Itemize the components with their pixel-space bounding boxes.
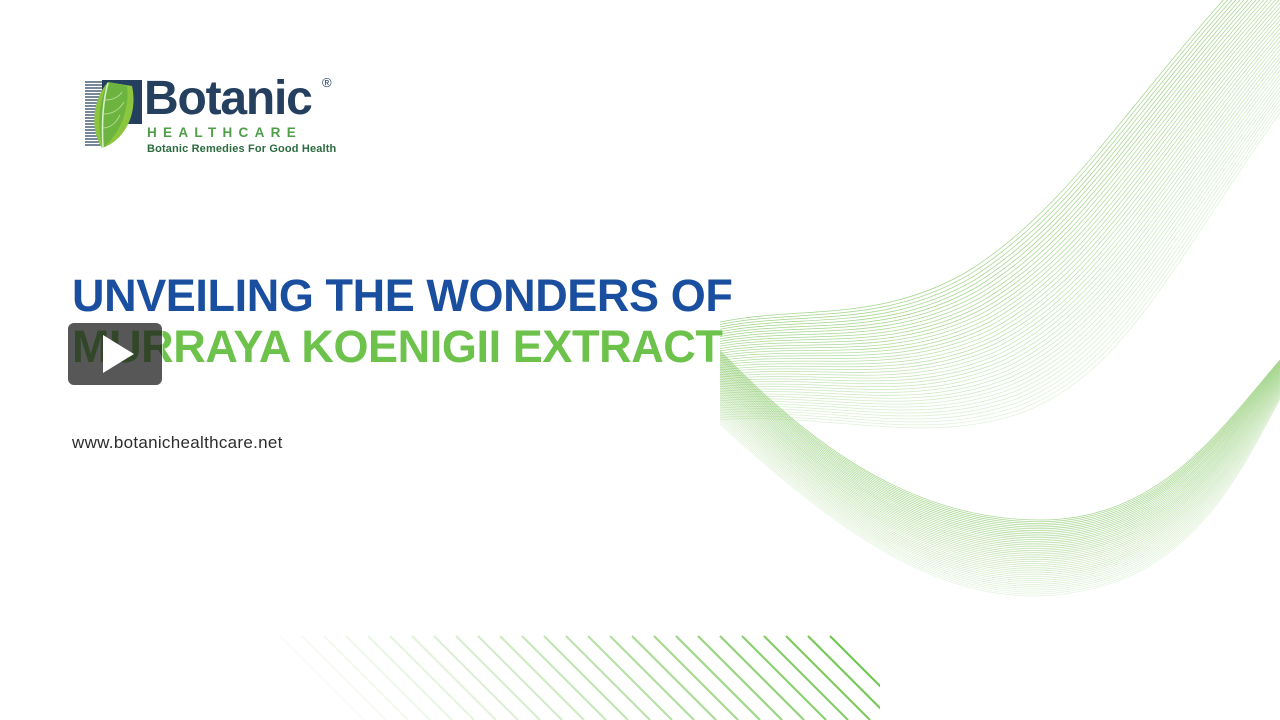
presentation-slide: Botanic ® HEALTHCARE Botanic Remedies Fo… [0, 0, 1280, 720]
botanic-healthcare-logo: Botanic ® HEALTHCARE Botanic Remedies Fo… [82, 78, 350, 160]
leaf-logo-icon [82, 78, 144, 154]
website-url: www.botanichealthcare.net [72, 433, 283, 453]
logo-text-block: Botanic ® HEALTHCARE Botanic Remedies Fo… [144, 78, 350, 156]
logo-brand-name: Botanic [144, 75, 312, 123]
logo-tagline: Botanic Remedies For Good Health [147, 144, 336, 155]
wave-decoration [720, 0, 1280, 620]
registered-trademark-icon: ® [322, 76, 332, 89]
diagonal-stripes-decoration [280, 630, 880, 720]
logo-division-name: HEALTHCARE [147, 126, 302, 140]
video-play-button[interactable] [68, 323, 162, 385]
slide-title-primary: UNVEILING THE WONDERS OF [72, 270, 732, 321]
slide-title-highlight: MURRAYA KOENIGII EXTRACT [72, 321, 722, 372]
play-triangle-icon [103, 335, 134, 373]
slide-title: UNVEILING THE WONDERS OF MURRAYA KOENIGI… [72, 270, 772, 372]
